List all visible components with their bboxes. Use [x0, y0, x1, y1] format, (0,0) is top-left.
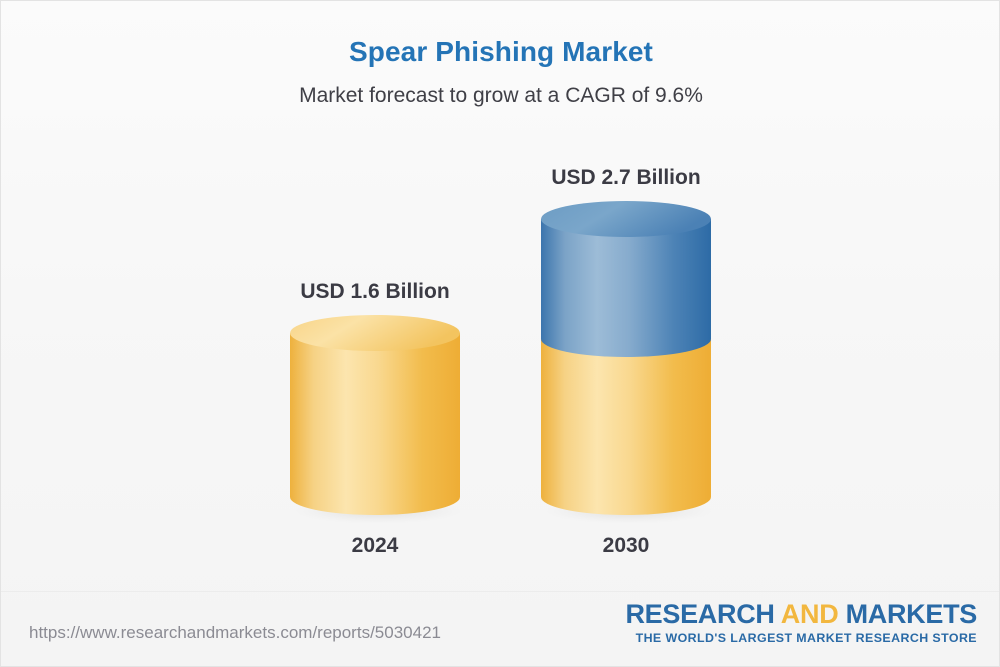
- chart-plot-area: USD 1.6 Billion: [1, 1, 1000, 601]
- brand-word-markets: MARKETS: [838, 599, 977, 629]
- cylinder-bar-2030[interactable]: [536, 199, 716, 525]
- brand-logo[interactable]: RESEARCH AND MARKETS THE WORLD'S LARGEST…: [625, 600, 977, 646]
- infographic-canvas: Spear Phishing Market Market forecast to…: [0, 0, 1000, 667]
- bar-category-label-2030: 2030: [456, 534, 796, 558]
- bar-top-2030: [541, 201, 711, 237]
- source-url-link[interactable]: https://www.researchandmarkets.com/repor…: [29, 623, 441, 643]
- bar-segment-blue-2030: [541, 219, 711, 357]
- brand-tagline: THE WORLD'S LARGEST MARKET RESEARCH STOR…: [625, 631, 977, 646]
- brand-wordmark: RESEARCH AND MARKETS: [625, 600, 977, 629]
- bar-value-label-2024: USD 1.6 Billion: [205, 280, 545, 304]
- bar-segment-gold-2030: [541, 339, 711, 515]
- footer-divider: [1, 591, 1000, 592]
- bar-top-2024: [290, 315, 460, 351]
- cylinder-bar-2024[interactable]: [285, 313, 465, 525]
- bar-body-2024: [290, 333, 460, 515]
- bar-value-label-2030: USD 2.7 Billion: [456, 166, 796, 190]
- brand-word-and: AND: [775, 599, 839, 629]
- brand-word-research: RESEARCH: [625, 599, 774, 629]
